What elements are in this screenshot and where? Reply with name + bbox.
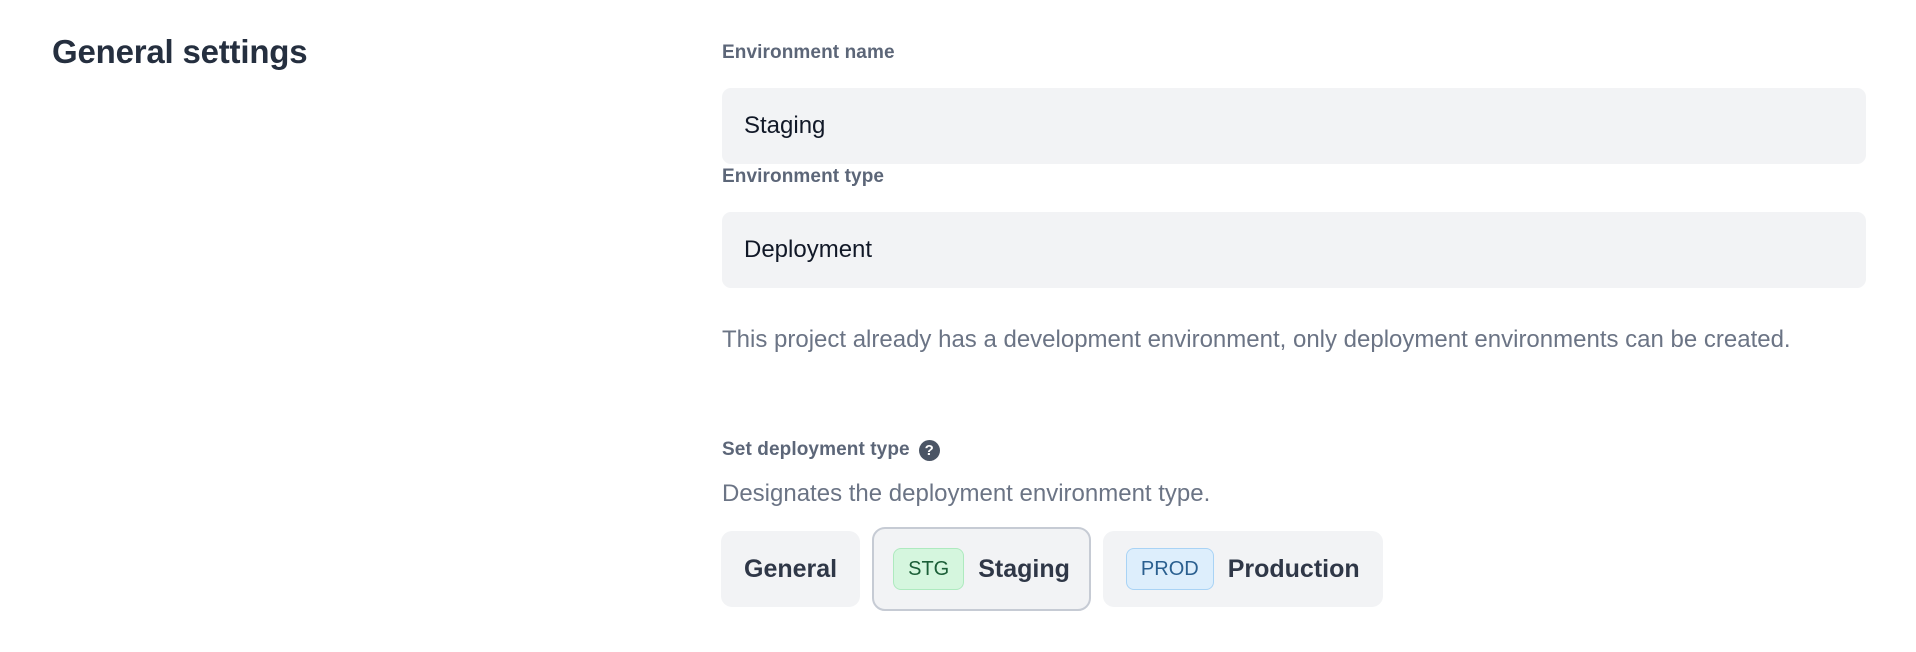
production-badge: PROD — [1126, 548, 1214, 590]
general-settings-page: General settings Environment name Enviro… — [0, 0, 1916, 652]
question-mark-icon[interactable]: ? — [919, 440, 940, 461]
environment-type-input[interactable] — [722, 212, 1866, 288]
page-title: General settings — [52, 33, 307, 71]
deployment-type-description: Designates the deployment environment ty… — [722, 478, 1210, 510]
environment-type-helper-text: This project already has a development e… — [722, 320, 1812, 360]
environment-type-label: Environment type — [722, 165, 884, 189]
environment-name-input[interactable] — [722, 88, 1866, 164]
deployment-type-option-staging-label: Staging — [978, 555, 1070, 584]
environment-name-label: Environment name — [722, 41, 895, 65]
deployment-type-label-row: Set deployment type ? — [722, 438, 940, 462]
deployment-type-option-production-label: Production — [1228, 555, 1360, 584]
environment-type-label-text: Environment type — [722, 166, 884, 187]
deployment-type-option-group: General STG Staging PROD Production — [721, 527, 1383, 611]
deployment-type-option-staging[interactable]: STG Staging — [872, 527, 1091, 611]
deployment-type-option-general[interactable]: General — [721, 531, 860, 607]
staging-badge: STG — [893, 548, 964, 590]
deployment-type-option-general-label: General — [744, 555, 837, 584]
environment-name-label-text: Environment name — [722, 42, 895, 63]
deployment-type-option-production[interactable]: PROD Production — [1103, 531, 1383, 607]
deployment-type-label-text: Set deployment type — [722, 438, 910, 462]
